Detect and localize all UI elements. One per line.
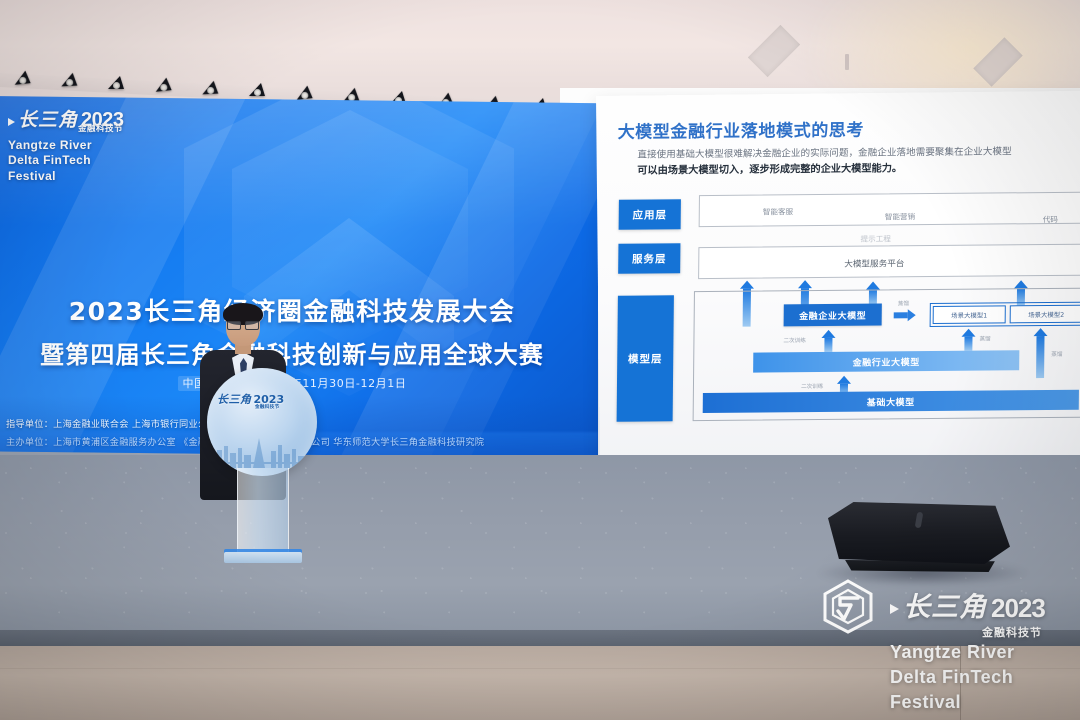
- brand-en-line2: Delta FinTech: [8, 153, 124, 169]
- layer-tag-service: 服务层: [618, 243, 680, 274]
- stage-light-icon: [202, 80, 219, 94]
- stage-light-icon: [295, 85, 312, 100]
- stage-light-icon: [249, 83, 265, 96]
- presentation-slide: 大模型金融行业落地模式的思考 直接使用基础大模型很难解决金融企业的实际问题，金融…: [596, 92, 1080, 462]
- arrow-label-distill: 蒸馏: [898, 299, 909, 307]
- podium-column: [237, 468, 289, 554]
- podium-brand-logo: 长三角 2023 金融科技节: [217, 394, 284, 411]
- app-item-smart-service: 智能客服: [763, 206, 793, 217]
- festival-mark-icon: [820, 578, 876, 634]
- podium-skyline-graphic: [213, 424, 311, 468]
- stage-light-icon: [108, 76, 124, 89]
- watermark-logo: 长三角 2023 金融科技节 Yangtze River Delta FinTe…: [820, 578, 1076, 714]
- ceiling-hanger: [845, 54, 849, 70]
- scene-model-box-1: 场景大模型1: [933, 305, 1006, 324]
- headline-line-1: 2023长三角经济圈金融科技发展大会: [0, 292, 590, 328]
- headline-line-2: 暨第四届长三角金融科技创新与应用全球大赛: [0, 335, 590, 370]
- layer-tag-application: 应用层: [619, 199, 681, 230]
- scene-model-box-2: 场景大模型2: [1010, 305, 1080, 324]
- stage-light-icon: [13, 70, 30, 85]
- backdrop-brand-logo: 长三角 2023 金融科技节 Yangtze River Delta FinTe…: [8, 110, 124, 185]
- up-arrow-icon: [1033, 328, 1048, 378]
- slide-body-text: 直接使用基础大模型很难解决金融企业的实际问题，金融企业落地需要聚集在企业大模型 …: [637, 144, 1080, 181]
- stage-light-icon: [61, 73, 78, 87]
- scene-model-group: 场景大模型1 场景大模型2: [930, 302, 1080, 327]
- watermark-arrow-icon: [890, 604, 899, 614]
- brand-arrow-icon: [8, 118, 15, 126]
- app-sub-item-prompt-engineering: 提示工程: [860, 233, 890, 244]
- brand-cn-subtitle: 金融科技节: [78, 124, 124, 133]
- backdrop-headline: 2023长三角经济圈金融科技发展大会 暨第四届长三角金融科技创新与应用全球大赛: [0, 292, 590, 370]
- right-arrow-icon: [894, 309, 916, 321]
- model-box-industry: 金融行业大模型: [753, 350, 1019, 372]
- watermark-text: 长三角 2023 金融科技节: [890, 594, 1045, 640]
- watermark-en-line2: Delta FinTech: [890, 665, 1015, 690]
- up-arrow-icon: [821, 330, 835, 352]
- layer-tag-model: 模型层: [617, 295, 674, 421]
- watermark-cn-name: 长三角: [903, 594, 987, 621]
- arrow-label-distill: 蒸馏: [979, 335, 990, 343]
- speaker-glasses: [227, 321, 259, 328]
- brand-en-line1: Yangtze River: [8, 138, 124, 154]
- podium-base: [224, 552, 302, 563]
- arrow-label-retrain: 二次训练: [801, 382, 823, 390]
- stage-monitor-speaker: [828, 502, 1010, 580]
- projection-screen: 大模型金融行业落地模式的思考 直接使用基础大模型很难解决金融企业的实际问题，金融…: [596, 91, 1080, 462]
- arrow-label-retrain: 二次训练: [783, 336, 805, 344]
- arrow-label-distill: 蒸馏: [1051, 350, 1062, 358]
- podium: 长三角 2023 金融科技节: [207, 368, 317, 566]
- model-box-foundation: 基础大模型: [703, 390, 1079, 413]
- brand-cn-name: 长三角: [18, 111, 78, 130]
- stage-light-icon: [154, 77, 171, 92]
- watermark-en-line3: Festival: [890, 690, 1015, 715]
- up-arrow-icon: [961, 329, 975, 351]
- watermark-year: 2023: [991, 595, 1045, 621]
- podium-logo-panel: 长三角 2023 金融科技节: [207, 368, 317, 476]
- stage-photograph: 长三角 2023 金融科技节 Yangtze River Delta FinTe…: [0, 0, 1080, 720]
- app-item-smart-marketing: 智能营销: [885, 211, 915, 222]
- stage-light-icon: [343, 88, 360, 102]
- podium-logo-cn: 长三角: [217, 394, 252, 405]
- watermark-cn-subtitle: 金融科技节: [982, 624, 1045, 640]
- service-item-platform: 大模型服务平台: [844, 257, 904, 270]
- slide-body-line-2: 可以由场景大模型切入，逐步形成完整的企业大模型能力。: [637, 160, 1080, 181]
- model-box-enterprise: 金融企业大模型: [784, 303, 882, 326]
- podium-logo-year: 2023: [254, 394, 285, 405]
- podium-logo-sub: 金融科技节: [255, 406, 284, 411]
- watermark-en-line1: Yangtze River: [890, 640, 1015, 665]
- brand-en-line3: Festival: [8, 169, 124, 185]
- app-item-code: 代码: [1043, 214, 1058, 225]
- watermark-en-block: Yangtze River Delta FinTech Festival: [890, 640, 1015, 714]
- slide-title: 大模型金融行业落地模式的思考: [618, 116, 865, 143]
- ceiling-vent-diamond: [748, 25, 800, 77]
